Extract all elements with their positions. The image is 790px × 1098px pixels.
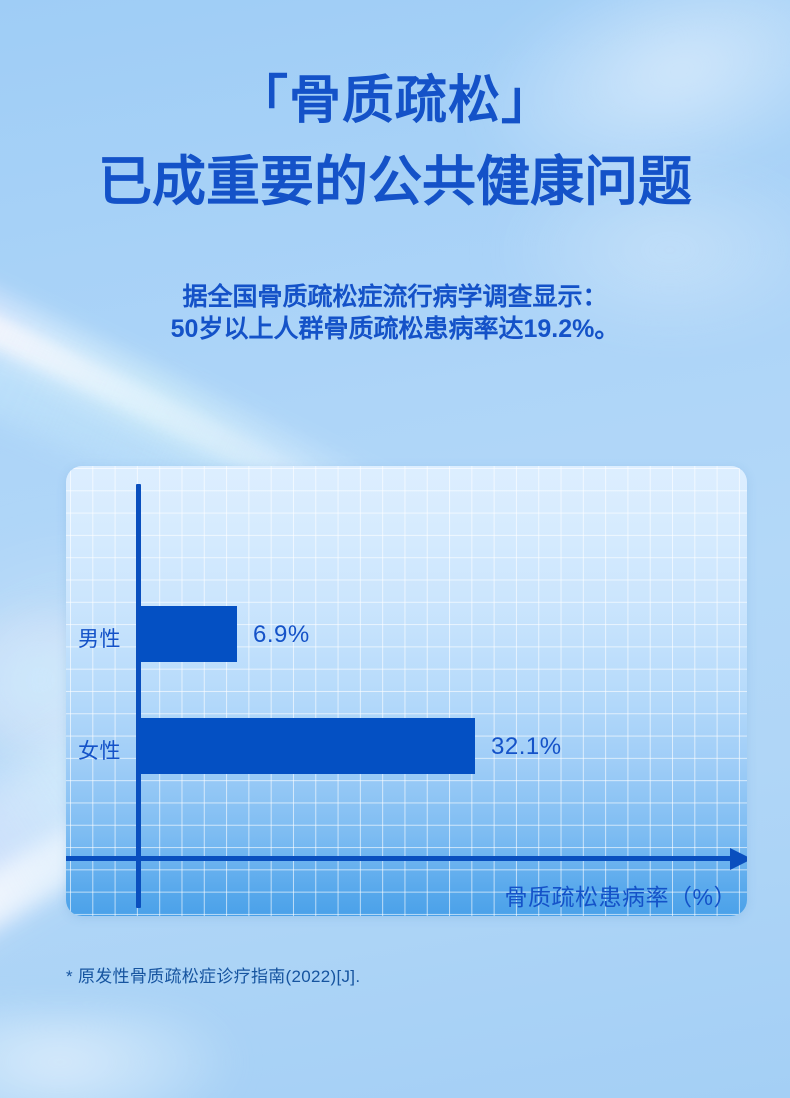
chart-card: 男性 女性 6.9% 32.1% 骨质疏松患病率（%）: [66, 466, 747, 916]
source-footnote: * 原发性骨质疏松症诊疗指南(2022)[J].: [66, 962, 360, 987]
subtitle-line-1: 据全国骨质疏松症流行病学调查显示：: [0, 280, 790, 314]
x-axis-line: [66, 856, 734, 861]
page-title-line-1: 「骨质疏松」: [0, 70, 790, 132]
bar-chart-plot: 男性 女性 6.9% 32.1% 骨质疏松患病率（%）: [66, 466, 747, 916]
prism-glow-lower-icon: [0, 1010, 240, 1098]
bar-female: [139, 718, 475, 774]
y-axis-line: [136, 484, 141, 908]
category-label-female: 女性: [78, 735, 121, 765]
x-axis-title: 骨质疏松患病率（%）: [505, 878, 737, 912]
value-label-male: 6.9%: [253, 621, 310, 649]
poster-page: 「骨质疏松」 已成重要的公共健康问题 据全国骨质疏松症流行病学调查显示： 50岁…: [0, 0, 790, 1098]
page-title-line-2: 已成重要的公共健康问题: [0, 150, 790, 214]
subtitle-line-2: 50岁以上人群骨质疏松患病率达19.2%。: [0, 312, 790, 346]
x-axis-arrow-icon: [730, 848, 747, 870]
category-label-male: 男性: [78, 623, 121, 653]
bar-male: [139, 606, 237, 662]
value-label-female: 32.1%: [491, 733, 562, 761]
